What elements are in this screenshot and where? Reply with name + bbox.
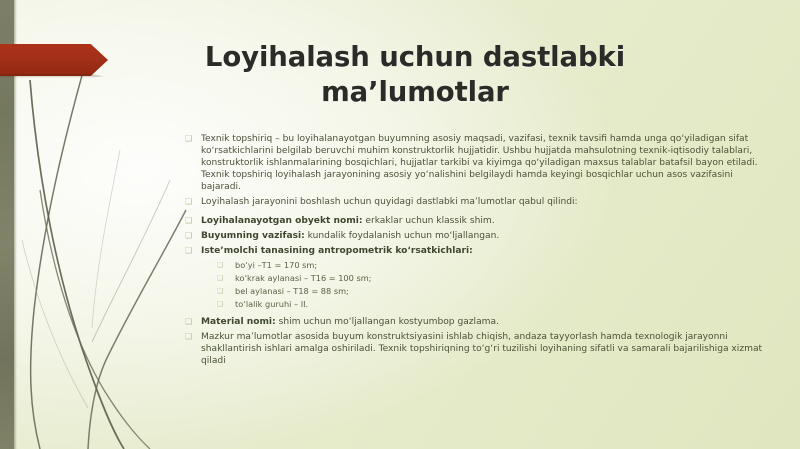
grass-blades-decoration (0, 60, 190, 449)
closing-paragraph: Mazkur ma’lumotlar asosida buyum konstru… (201, 331, 763, 367)
bullet-icon: ❑ (185, 231, 192, 241)
bullet-icon: ❑ (185, 216, 192, 226)
anthropometry-fullness-group: to‘lalik guruhi – II. (235, 299, 308, 309)
list-item: ❑ Texnik topshiriq – bu loyihalanayotgan… (183, 133, 763, 193)
lead-in-text: Loyihalash jarayonini boshlash uchun quy… (201, 196, 763, 208)
sub-bullet-icon: ❑ (217, 261, 223, 270)
slide-title: Loyihalash uchun dastlabki ma’lumotlar (150, 40, 680, 110)
intro-paragraph: Texnik topshiriq – bu loyihalanayotgan b… (201, 133, 763, 193)
sub-bullet-icon: ❑ (217, 287, 223, 296)
field-object-name: Loyihalanayotgan obyekt nomi: erkaklar u… (201, 215, 763, 227)
field-label: Buyumning vazifasi: (201, 231, 305, 241)
sub-list-item: ❑ to‘lalik guruhi – II. (183, 299, 763, 310)
sub-bullet-icon: ❑ (217, 300, 223, 309)
arrow-banner-shadow (0, 74, 104, 78)
field-label: Loyihalanayotgan obyekt nomi: (201, 216, 362, 226)
sub-list-item: ❑ ko‘krak aylanasi – T16 = 100 sm; (183, 273, 763, 284)
field-value: kundalik foydalanish uchun mo‘ljallangan… (305, 231, 500, 241)
sub-list-item: ❑ bo‘yi –T1 = 170 sm; (183, 260, 763, 271)
field-value: shim uchun mo‘ljallangan kostyumbop gazl… (276, 317, 499, 327)
list-item: ❑ Loyihalanayotgan obyekt nomi: erkaklar… (183, 215, 763, 227)
field-value: erkaklar uchun klassik shim. (362, 216, 494, 226)
bullet-icon: ❑ (185, 246, 192, 256)
bullet-icon: ❑ (185, 317, 192, 327)
field-material: Material nomi: shim uchun mo‘ljallangan … (201, 316, 763, 328)
list-item: ❑ Buyumning vazifasi: kundalik foydalani… (183, 230, 763, 242)
list-item: ❑ Loyihalash jarayonini boshlash uchun q… (183, 196, 763, 208)
field-label: Material nomi: (201, 317, 276, 327)
sub-bullet-icon: ❑ (217, 274, 223, 283)
slide-body: ❑ Texnik topshiriq – bu loyihalanayotgan… (183, 133, 763, 370)
field-purpose: Buyumning vazifasi: kundalik foydalanish… (201, 230, 763, 242)
anthropometry-chest: ko‘krak aylanasi – T16 = 100 sm; (235, 273, 371, 283)
bullet-icon: ❑ (185, 332, 192, 342)
sub-list-item: ❑ bel aylanasi – T18 = 88 sm; (183, 286, 763, 297)
list-item: ❑ Iste’molchi tanasining antropometrik k… (183, 245, 763, 257)
bullet-icon: ❑ (185, 197, 192, 207)
list-item: ❑ Material nomi: shim uchun mo‘ljallanga… (183, 316, 763, 328)
anthropometry-heading: Iste’molchi tanasining antropometrik ko‘… (201, 245, 763, 257)
list-item: ❑ Mazkur ma’lumotlar asosida buyum konst… (183, 331, 763, 367)
anthropometry-waist: bel aylanasi – T18 = 88 sm; (235, 286, 349, 296)
anthropometry-height: bo‘yi –T1 = 170 sm; (235, 260, 317, 270)
presentation-slide: Loyihalash uchun dastlabki ma’lumotlar ❑… (0, 0, 800, 449)
bullet-icon: ❑ (185, 134, 192, 144)
field-label: Iste’molchi tanasining antropometrik ko‘… (201, 246, 473, 256)
right-arrow-banner (0, 44, 108, 76)
